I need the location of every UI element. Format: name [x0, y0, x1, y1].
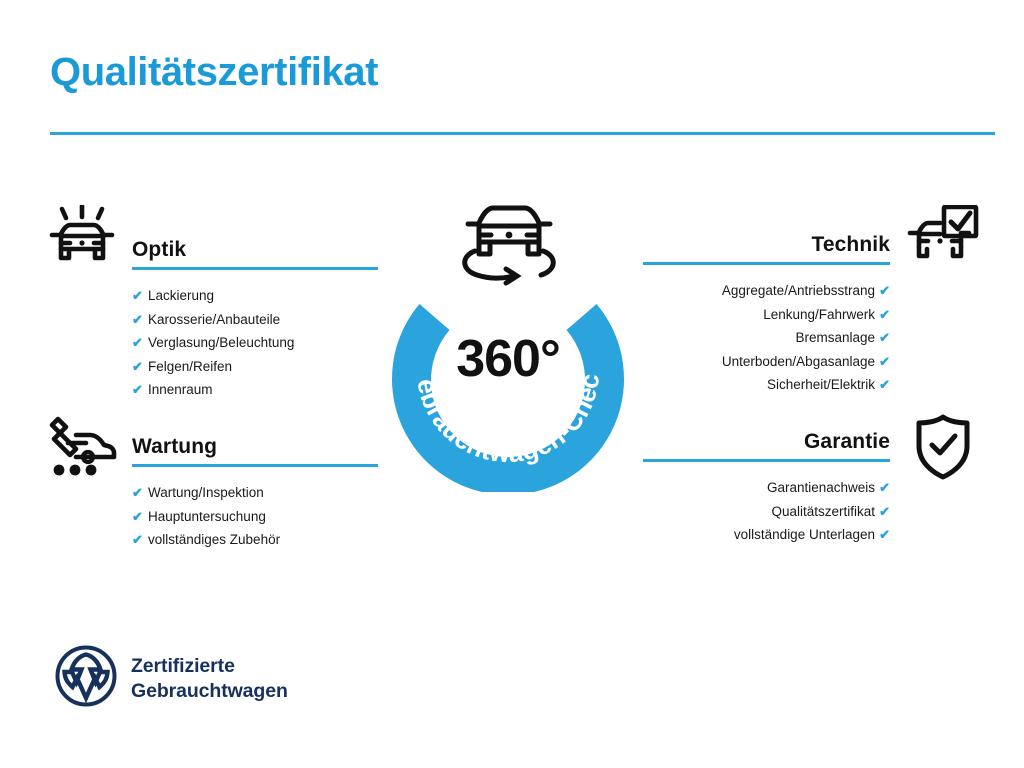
check-icon: ✔ [879, 476, 890, 500]
list-item-label: Sicherheit/Elektrik [767, 377, 875, 392]
list-item-label: Innenraum [148, 382, 213, 397]
car-service-pen-icon [46, 415, 118, 482]
footer-brand: Zertifizierte Gebrauchtwagen [55, 645, 288, 712]
list-item: ✔Innenraum [132, 378, 378, 402]
checklist-wartung: ✔Wartung/Inspektion ✔Hauptuntersuchung ✔… [132, 467, 378, 552]
checklist-technik: Aggregate/Antriebsstrang✔ Lenkung/Fahrwe… [643, 265, 890, 397]
list-item: vollständige Unterlagen✔ [643, 523, 890, 547]
list-item: ✔Lackierung [132, 284, 378, 308]
list-item-label: Wartung/Inspektion [148, 485, 264, 500]
list-item: ✔vollständiges Zubehör [132, 528, 378, 552]
check-icon: ✔ [879, 279, 890, 303]
check-icon: ✔ [879, 303, 890, 327]
check-icon: ✔ [132, 331, 143, 355]
section-heading-garantie: Garantie [643, 430, 890, 459]
section-heading-wartung: Wartung [132, 435, 378, 464]
section-garantie: Garantie Garantienachweis✔ Qualitätszert… [643, 430, 890, 547]
section-heading-technik: Technik [643, 233, 890, 262]
certificate-page: Qualitätszertifikat [0, 0, 1024, 768]
check-icon: ✔ [879, 373, 890, 397]
check-icon: ✔ [132, 528, 143, 552]
360-check-badge: Gebrauchtwagen-Check 360° [372, 192, 644, 492]
list-item-label: Bremsanlage [795, 330, 875, 345]
footer-line-1: Zertifizierte [131, 654, 288, 679]
page-title: Qualitätszertifikat [50, 52, 378, 92]
footer-line-2: Gebrauchtwagen [131, 679, 288, 704]
badge-center-label: 360° [372, 329, 644, 389]
check-icon: ✔ [879, 350, 890, 374]
list-item-label: Felgen/Reifen [148, 359, 232, 374]
car-front-shine-icon [48, 205, 116, 282]
check-icon: ✔ [132, 378, 143, 402]
list-item-label: Qualitätszertifikat [771, 504, 875, 519]
list-item-label: Karosserie/Anbauteile [148, 312, 280, 327]
section-technik: Technik Aggregate/Antriebsstrang✔ Lenkun… [643, 233, 890, 397]
list-item: ✔Wartung/Inspektion [132, 481, 378, 505]
list-item: ✔Felgen/Reifen [132, 355, 378, 379]
list-item-label: Lackierung [148, 288, 214, 303]
vw-logo [55, 645, 117, 712]
list-item: Sicherheit/Elektrik✔ [643, 373, 890, 397]
check-icon: ✔ [879, 523, 890, 547]
check-icon: ✔ [132, 284, 143, 308]
list-item-label: vollständige Unterlagen [734, 527, 875, 542]
list-item: Garantienachweis✔ [643, 476, 890, 500]
list-item-label: vollständiges Zubehör [148, 532, 280, 547]
list-item-label: Verglasung/Beleuchtung [148, 335, 294, 350]
list-item: Unterboden/Abgasanlage✔ [643, 350, 890, 374]
shield-check-icon [912, 414, 974, 485]
list-item-label: Garantienachweis [767, 480, 875, 495]
section-wartung: Wartung ✔Wartung/Inspektion ✔Hauptunters… [132, 435, 378, 552]
check-icon: ✔ [132, 308, 143, 332]
list-item-label: Hauptuntersuchung [148, 509, 266, 524]
check-icon: ✔ [132, 355, 143, 379]
check-icon: ✔ [132, 505, 143, 529]
list-item-label: Unterboden/Abgasanlage [722, 354, 875, 369]
list-item-label: Lenkung/Fahrwerk [763, 307, 875, 322]
section-heading-optik: Optik [132, 238, 378, 267]
checklist-garantie: Garantienachweis✔ Qualitätszertifikat✔ v… [643, 462, 890, 547]
list-item: Bremsanlage✔ [643, 326, 890, 350]
footer-text: Zertifizierte Gebrauchtwagen [131, 654, 288, 704]
list-item: ✔Karosserie/Anbauteile [132, 308, 378, 332]
list-item: Lenkung/Fahrwerk✔ [643, 303, 890, 327]
list-item: ✔Verglasung/Beleuchtung [132, 331, 378, 355]
list-item-label: Aggregate/Antriebsstrang [722, 283, 875, 298]
header-divider [50, 132, 995, 135]
check-icon: ✔ [132, 481, 143, 505]
checklist-optik: ✔Lackierung ✔Karosserie/Anbauteile ✔Verg… [132, 270, 378, 402]
list-item: ✔Hauptuntersuchung [132, 505, 378, 529]
list-item: Aggregate/Antriebsstrang✔ [643, 279, 890, 303]
car-checkbox-icon [906, 205, 980, 276]
section-optik: Optik ✔Lackierung ✔Karosserie/Anbauteile… [132, 238, 378, 402]
check-icon: ✔ [879, 326, 890, 350]
check-icon: ✔ [879, 500, 890, 524]
list-item: Qualitätszertifikat✔ [643, 500, 890, 524]
